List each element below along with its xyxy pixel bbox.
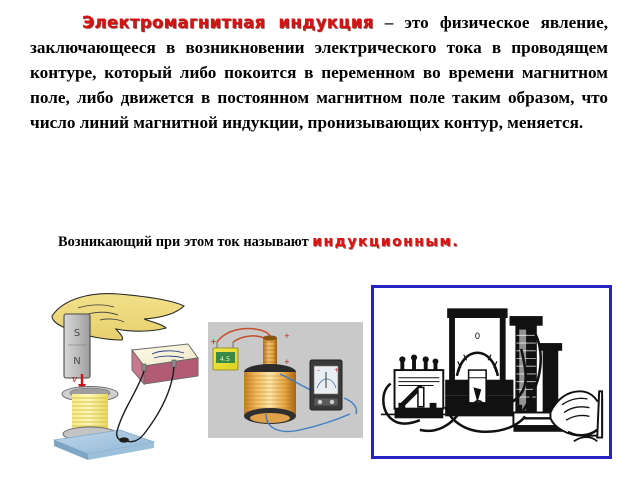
velocity-label: v — [72, 375, 77, 385]
bar-magnet — [64, 314, 90, 378]
note-lead-text: Возникающий при этом ток называют — [58, 234, 312, 250]
coil-large — [515, 320, 536, 415]
meter-knob-right — [330, 400, 334, 404]
sleeve-cuff — [597, 391, 602, 437]
meter-knob-left — [318, 400, 322, 404]
figure-magnet-coil: S N v — [48, 288, 206, 460]
terminal-plus-lower: + — [284, 358, 290, 366]
figure-coil-in-coil: 4.5 + + + — [208, 322, 363, 438]
meter-plus-label: + — [334, 367, 339, 374]
meter-minus-label: – — [317, 367, 320, 374]
figure-coil-in-coil-graphic: 4.5 + + + — [208, 322, 363, 438]
magnet-pole-n: N — [73, 356, 80, 367]
definition-dash: – — [374, 13, 405, 32]
definition-term: Электромагнитная индукция — [82, 13, 374, 32]
battery-label: 4.5 — [220, 355, 230, 363]
figure-lab-setup-graphic: 0 — [377, 291, 606, 453]
wire-junction — [119, 437, 129, 442]
battery-plus-sign: + — [210, 337, 217, 346]
terminal-plus-upper: + — [284, 332, 290, 340]
figure-lab-setup: 0 — [371, 285, 612, 459]
galvanometer-terminal-right — [172, 360, 176, 367]
definition-paragraph: Электромагнитная индукция – это физическ… — [30, 10, 608, 135]
note-paragraph: Возникающий при этом ток называют индукц… — [58, 232, 618, 252]
galvanometer-terminal-left — [142, 364, 146, 371]
slide-canvas: Электромагнитная индукция – это физическ… — [0, 0, 640, 480]
figure-magnet-coil-graphic: S N v — [48, 288, 206, 460]
scale-zero-label: 0 — [475, 332, 481, 342]
note-highlight-text: индукционным. — [312, 234, 459, 250]
magnet-pole-s: S — [74, 328, 80, 339]
